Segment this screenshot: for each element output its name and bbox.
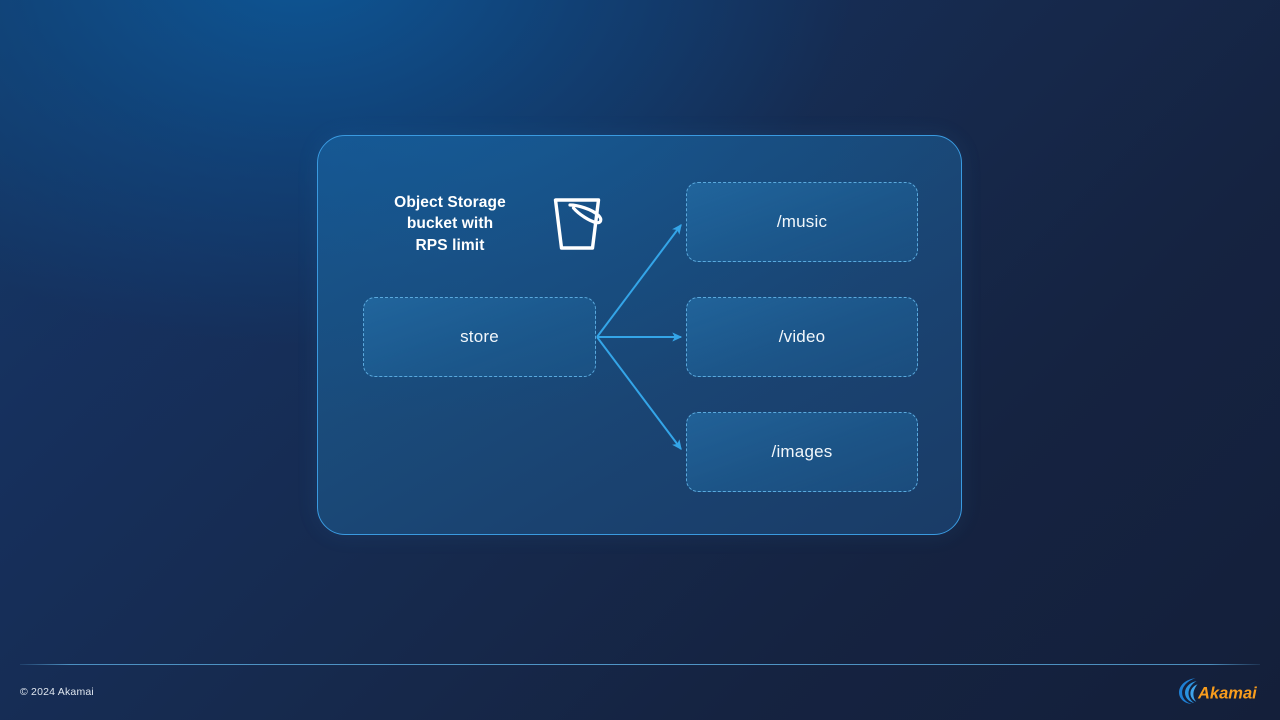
node-music[interactable]: /music	[686, 182, 918, 262]
storage-bucket-icon	[546, 193, 608, 255]
diagram-container: Object Storage bucket with RPS limit	[317, 135, 962, 535]
node-video-label: /video	[779, 327, 826, 347]
node-store[interactable]: store	[363, 297, 596, 377]
slide-canvas: Object Storage bucket with RPS limit	[0, 0, 1280, 720]
arrow-store-to-images	[597, 337, 681, 449]
node-images-label: /images	[772, 442, 833, 462]
node-store-label: store	[460, 327, 499, 347]
footer-divider	[20, 664, 1260, 665]
akamai-logo: Akamai	[1176, 676, 1262, 706]
node-video[interactable]: /video	[686, 297, 918, 377]
copyright-text: © 2024 Akamai	[20, 686, 94, 698]
node-images[interactable]: /images	[686, 412, 918, 492]
object-storage-bucket-group: Object Storage bucket with RPS limit	[376, 184, 638, 264]
bucket-label-line-1: Object Storage	[376, 192, 524, 213]
bucket-label-line-3: RPS limit	[376, 235, 524, 256]
akamai-wordmark: Akamai	[1197, 684, 1257, 702]
bucket-label-line-2: bucket with	[376, 213, 524, 234]
node-music-label: /music	[777, 212, 827, 232]
object-storage-bucket-label: Object Storage bucket with RPS limit	[376, 192, 524, 256]
